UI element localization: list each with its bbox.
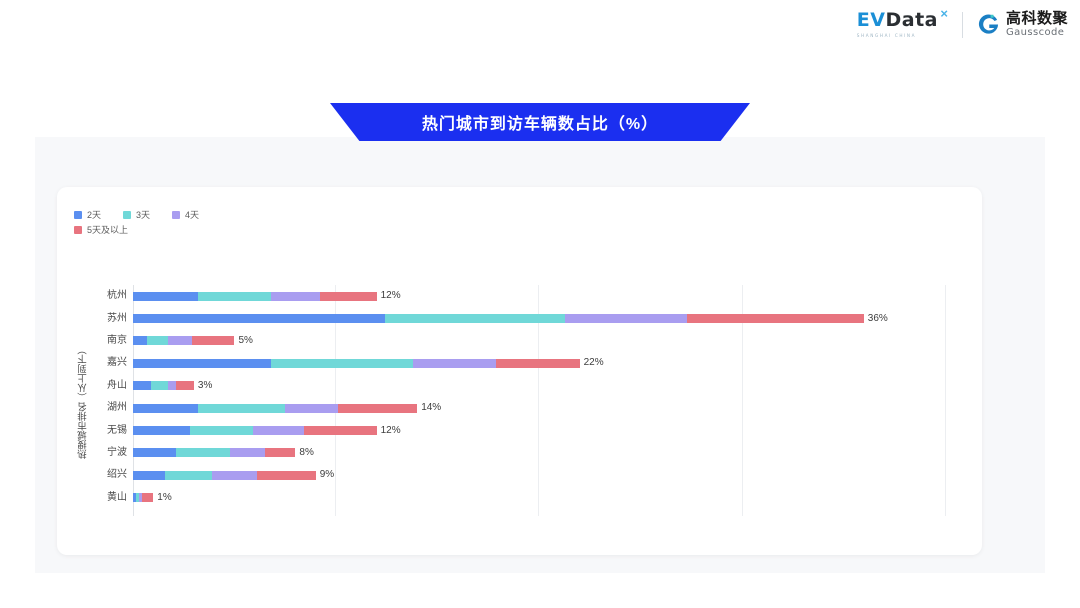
category-label-湖州: 湖州 [57, 403, 127, 413]
chart-row: 苏州36% [57, 307, 982, 329]
bar-segment-4天[interactable] [413, 359, 496, 368]
stacked-bar[interactable] [133, 493, 153, 502]
bar-segment-5天及以上[interactable] [496, 359, 579, 368]
chart-card: 2天 3天 4天 5天及以上 热搜城市排名（从上到下） [57, 187, 982, 555]
chart-row: 黄山1% [57, 487, 982, 509]
bar-segment-4天[interactable] [230, 448, 265, 457]
bar-segment-2天[interactable] [133, 426, 190, 435]
category-label-南京: 南京 [57, 336, 127, 346]
category-label-宁波: 宁波 [57, 448, 127, 458]
bar-value-label: 8% [299, 448, 313, 458]
stacked-bar[interactable] [133, 292, 377, 301]
bar-segment-2天[interactable] [133, 381, 151, 390]
bar-segment-4天[interactable] [168, 336, 192, 345]
stacked-bar[interactable] [133, 448, 295, 457]
bar-segment-2天[interactable] [133, 314, 385, 323]
bar-value-label: 12% [381, 291, 401, 301]
category-label-杭州: 杭州 [57, 291, 127, 301]
bar-segment-3天[interactable] [165, 471, 212, 480]
evdata-wordmark: EVData [857, 11, 938, 30]
bar-segment-3天[interactable] [198, 404, 285, 413]
stacked-bar[interactable] [133, 471, 316, 480]
bar-segment-3天[interactable] [190, 426, 253, 435]
category-label-舟山: 舟山 [57, 381, 127, 391]
chart-row: 舟山3% [57, 375, 982, 397]
category-label-绍兴: 绍兴 [57, 470, 127, 480]
bar-segment-5天及以上[interactable] [257, 471, 316, 480]
chart-row: 宁波8% [57, 442, 982, 464]
gausscode-logo-icon [977, 13, 1000, 36]
chart-bar-rows: 杭州12%苏州36%南京5%嘉兴22%舟山3%湖州14%无锡12%宁波8%绍兴9… [57, 285, 982, 509]
bar-segment-3天[interactable] [176, 448, 231, 457]
evdata-subtitle: SHANGHAI CHINA [857, 33, 916, 38]
bar-segment-2天[interactable] [133, 292, 198, 301]
logo-divider [962, 12, 963, 38]
gausscode-texts: 高科数聚 Gausscode [1006, 11, 1068, 38]
bar-segment-5天及以上[interactable] [142, 493, 153, 502]
bar-segment-3天[interactable] [385, 314, 566, 323]
logo-group: EVData × SHANGHAI CHINA 高科数聚 Gausscode [857, 11, 1068, 38]
gausscode-logo: 高科数聚 Gausscode [977, 11, 1068, 38]
bar-segment-5天及以上[interactable] [320, 292, 377, 301]
stacked-bar[interactable] [133, 426, 377, 435]
category-label-无锡: 无锡 [57, 426, 127, 436]
bar-segment-2天[interactable] [133, 359, 271, 368]
bar-segment-3天[interactable] [151, 381, 167, 390]
chart-row: 杭州12% [57, 285, 982, 307]
bar-segment-3天[interactable] [147, 336, 167, 345]
stacked-bar[interactable] [133, 404, 417, 413]
bar-segment-3天[interactable] [198, 292, 271, 301]
bar-segment-5天及以上[interactable] [176, 381, 194, 390]
bar-value-label: 36% [868, 314, 888, 324]
bar-segment-2天[interactable] [133, 471, 165, 480]
bar-segment-5天及以上[interactable] [304, 426, 377, 435]
chart-plot-area: 热搜城市排名（从上到下） 杭州12%苏州36%南京5%嘉兴22%舟山3%湖州14… [57, 187, 982, 555]
chart-row: 湖州14% [57, 397, 982, 419]
bar-segment-4天[interactable] [271, 292, 320, 301]
bar-value-label: 9% [320, 470, 334, 480]
bar-value-label: 12% [381, 426, 401, 436]
bar-segment-4天[interactable] [212, 471, 257, 480]
bar-segment-3天[interactable] [271, 359, 413, 368]
slide-title-banner: 热门城市到访车辆数占比（%） [330, 103, 750, 141]
stacked-bar[interactable] [133, 381, 194, 390]
category-label-黄山: 黄山 [57, 493, 127, 503]
chart-row: 无锡12% [57, 419, 982, 441]
bar-segment-4天[interactable] [168, 381, 176, 390]
bar-segment-4天[interactable] [253, 426, 304, 435]
bar-value-label: 3% [198, 381, 212, 391]
stacked-bar[interactable] [133, 336, 234, 345]
category-label-苏州: 苏州 [57, 314, 127, 324]
evdata-x-icon: × [940, 7, 948, 20]
gausscode-name-en: Gausscode [1006, 28, 1068, 38]
bar-value-label: 14% [421, 403, 441, 413]
bar-segment-5天及以上[interactable] [338, 404, 417, 413]
bar-segment-2天[interactable] [133, 448, 176, 457]
chart-row: 嘉兴22% [57, 352, 982, 374]
bar-segment-5天及以上[interactable] [192, 336, 235, 345]
chart-row: 南京5% [57, 330, 982, 352]
stacked-bar[interactable] [133, 359, 580, 368]
evdata-logo: EVData × SHANGHAI CHINA [857, 11, 948, 38]
gausscode-name-cn: 高科数聚 [1006, 11, 1068, 26]
bar-value-label: 1% [157, 493, 171, 503]
evdata-wordmark-data: Data [885, 9, 938, 31]
bar-segment-5天及以上[interactable] [687, 314, 864, 323]
bar-value-label: 22% [584, 358, 604, 368]
evdata-wordmark-ev: EV [857, 9, 886, 31]
stacked-bar[interactable] [133, 314, 864, 323]
bar-segment-5天及以上[interactable] [265, 448, 295, 457]
bar-segment-4天[interactable] [565, 314, 687, 323]
top-branding-bar: EVData × SHANGHAI CHINA 高科数聚 Gausscode [0, 0, 1080, 55]
category-label-嘉兴: 嘉兴 [57, 358, 127, 368]
chart-row: 绍兴9% [57, 464, 982, 486]
bar-segment-4天[interactable] [285, 404, 338, 413]
bar-segment-2天[interactable] [133, 404, 198, 413]
bar-value-label: 5% [239, 336, 253, 346]
bar-segment-2天[interactable] [133, 336, 147, 345]
